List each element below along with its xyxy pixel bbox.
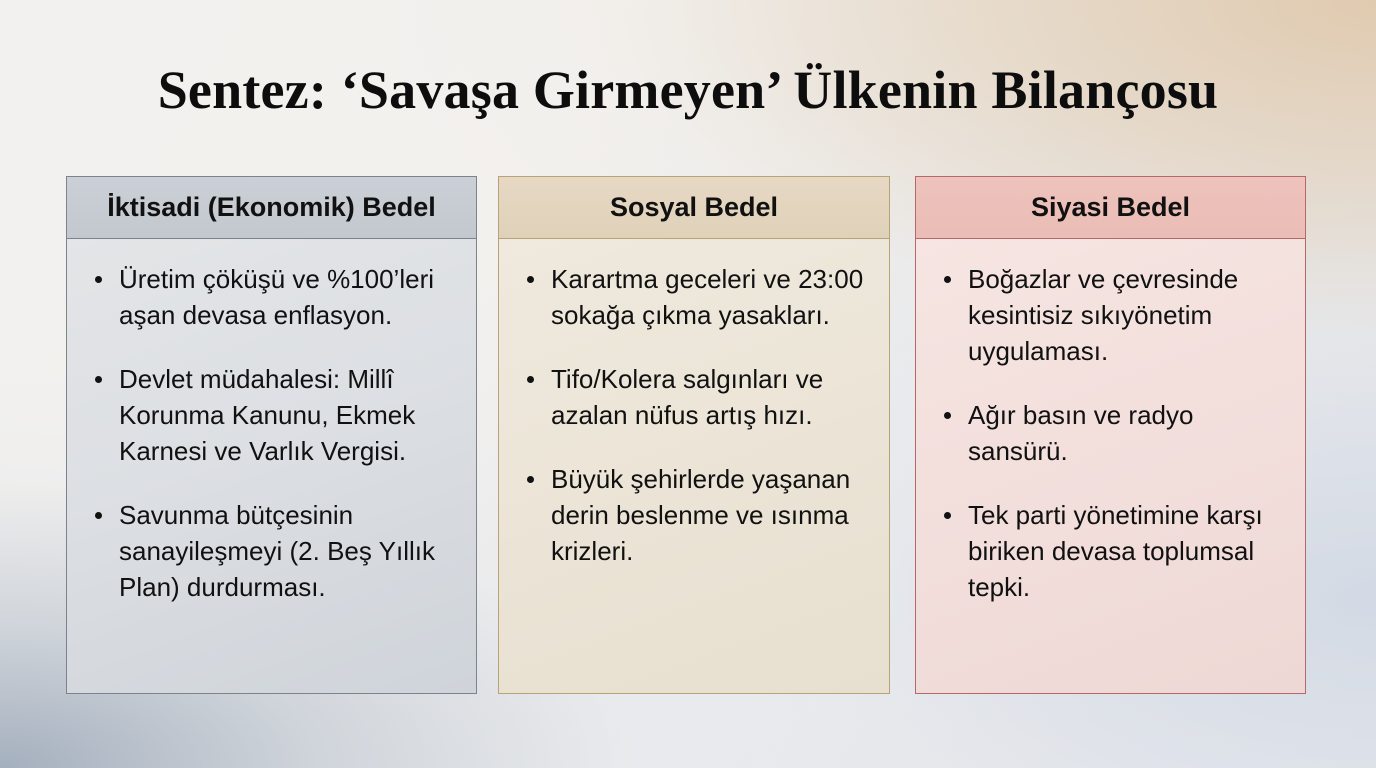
column-header-social: Sosyal Bedel (498, 176, 890, 239)
list-item: Üretim çöküşü ve %100’leri aşan devasa e… (85, 261, 460, 333)
column-social: Sosyal Bedel Karartma geceleri ve 23:00 … (498, 176, 890, 694)
column-body-social: Karartma geceleri ve 23:00 sokağa çıkma … (498, 239, 890, 694)
column-header-political: Siyasi Bedel (915, 176, 1306, 239)
bullet-list-social: Karartma geceleri ve 23:00 sokağa çıkma … (517, 261, 873, 569)
column-body-economic: Üretim çöküşü ve %100’leri aşan devasa e… (66, 239, 477, 694)
list-item: Boğazlar ve çevresinde kesintisiz sıkıyö… (934, 261, 1289, 369)
column-header-economic: İktisadi (Ekonomik) Bedel (66, 176, 477, 239)
list-item: Büyük şehirlerde yaşanan derin beslenme … (517, 461, 873, 569)
bullet-list-political: Boğazlar ve çevresinde kesintisiz sıkıyö… (934, 261, 1289, 605)
column-economic: İktisadi (Ekonomik) Bedel Üretim çöküşü … (66, 176, 477, 694)
list-item: Devlet müdahalesi: Millî Korunma Kanunu,… (85, 361, 460, 469)
list-item: Tifo/Kolera salgınları ve azalan nüfus a… (517, 361, 873, 433)
bullet-list-economic: Üretim çöküşü ve %100’leri aşan devasa e… (85, 261, 460, 605)
list-item: Tek parti yönetimine karşı biriken devas… (934, 497, 1289, 605)
list-item: Ağır basın ve radyo sansürü. (934, 397, 1289, 469)
list-item: Savunma bütçesinin sanayileşmeyi (2. Beş… (85, 497, 460, 605)
page-title: Sentez: ‘Savaşa Girmeyen’ Ülkenin Bilanç… (0, 60, 1376, 120)
comparison-columns: İktisadi (Ekonomik) Bedel Üretim çöküşü … (66, 176, 1306, 694)
column-body-political: Boğazlar ve çevresinde kesintisiz sıkıyö… (915, 239, 1306, 694)
slide-canvas: Sentez: ‘Savaşa Girmeyen’ Ülkenin Bilanç… (0, 0, 1376, 768)
list-item: Karartma geceleri ve 23:00 sokağa çıkma … (517, 261, 873, 333)
column-political: Siyasi Bedel Boğazlar ve çevresinde kesi… (915, 176, 1306, 694)
